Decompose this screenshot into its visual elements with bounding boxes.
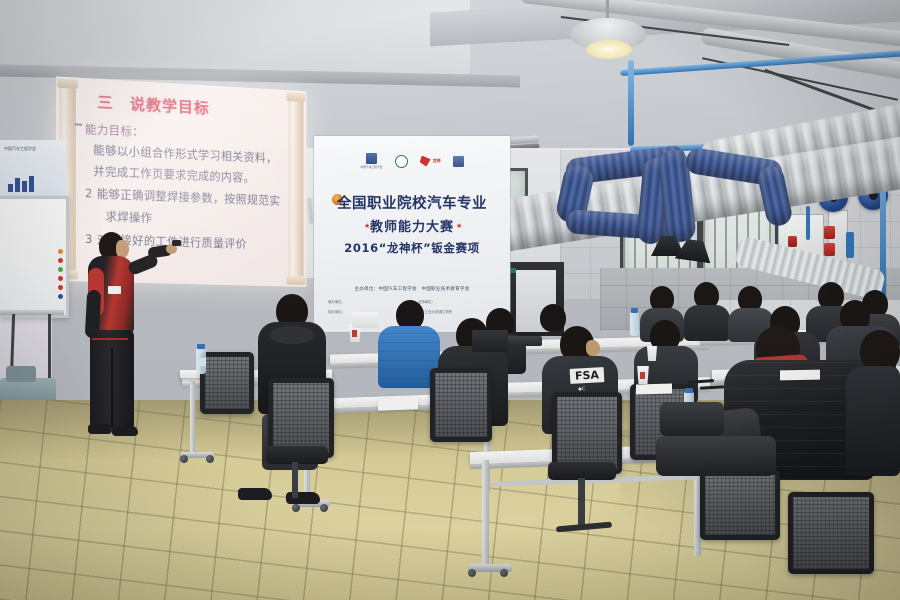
blue-valve <box>846 232 854 258</box>
whiteboard-tray <box>0 310 64 315</box>
caster-wheel <box>206 455 214 463</box>
power-socket[interactable] <box>788 236 797 247</box>
classroom-photo: 三 说教学目标 能力目标： 能够以小组合作形式学习相关资料， 并完成工作页要求完… <box>0 0 900 600</box>
notepad[interactable] <box>636 383 672 394</box>
laptop-screen[interactable] <box>472 330 508 352</box>
tissue-box <box>352 312 378 328</box>
jacket-badge: FSA <box>570 367 605 384</box>
shoe <box>88 424 112 434</box>
projected-slide: 三 说教学目标 能力目标： 能够以小组合作形式学习相关资料， 并完成工作页要求完… <box>56 76 306 287</box>
magnet-icon[interactable] <box>58 285 63 290</box>
poster-text: 中国汽车工程学会 <box>4 146 36 152</box>
blue-hose <box>806 206 810 240</box>
slide-line: 并完成工作页要求完成的内容。 <box>93 163 255 186</box>
whiteboard[interactable] <box>0 196 69 318</box>
laptop-bag[interactable] <box>656 436 776 476</box>
cup-logo <box>640 372 645 379</box>
banner-fine-print: 主办单位：中国汽车工程学会 中国职业技术教育学会 <box>314 286 510 292</box>
caster-wheel <box>320 504 328 512</box>
shoe <box>238 488 272 500</box>
slide-line: 2 能够正确调整焊接参数，按照规范实 <box>85 185 280 209</box>
cup-logo <box>352 330 357 337</box>
shoe <box>112 426 138 436</box>
university-logo-icon <box>453 156 464 167</box>
banner-title-line1: 全国职业院校汽车专业 <box>314 192 510 213</box>
chair[interactable] <box>700 470 780 540</box>
chair-post <box>292 462 298 498</box>
longshen-logo-icon: 龙神 <box>420 156 441 167</box>
presenter-badge <box>108 286 121 294</box>
blue-pipe <box>628 60 634 146</box>
china-sae-logo-icon: 中国汽车工程学会 <box>360 153 382 169</box>
slide-line: 能够以小组合作形式学习相关资料， <box>93 142 277 167</box>
magnet-icon[interactable] <box>58 258 63 263</box>
chair[interactable] <box>788 492 874 574</box>
chair[interactable] <box>430 368 492 442</box>
caster-wheel <box>180 455 188 463</box>
bottle-cap <box>685 388 693 393</box>
slide-bullet-dash <box>75 123 82 125</box>
water-bottle[interactable] <box>630 312 639 336</box>
slide-column-ornament <box>288 92 303 285</box>
power-socket[interactable] <box>824 243 835 256</box>
slide-line: 求焊操作 <box>106 208 153 226</box>
sponsor-logo-row: 中国汽车工程学会 龙神 <box>326 152 498 170</box>
wall-poster: 中国汽车工程学会 <box>0 140 66 200</box>
chair-post <box>578 478 585 526</box>
power-socket[interactable] <box>824 226 835 239</box>
magnet-icon[interactable] <box>58 276 63 281</box>
banner-title-line3: 2016“龙神杯”钣金赛项 <box>314 240 510 256</box>
magnet-icon[interactable] <box>58 249 63 254</box>
table-leg <box>190 381 195 455</box>
pen[interactable] <box>748 364 762 369</box>
whiteboard-magnets[interactable] <box>58 249 63 299</box>
caster-wheel <box>500 569 508 577</box>
workshop-machine-head <box>6 366 36 382</box>
attendee-body <box>846 366 900 476</box>
presenter-leg-split <box>111 348 113 428</box>
lamp-glow <box>586 40 632 59</box>
attendee-head <box>540 304 566 332</box>
notepad[interactable] <box>780 370 820 381</box>
presenter-trouser-stripe <box>92 338 128 340</box>
banner-title-line2: 教师能力大赛 <box>314 216 510 235</box>
laptop-bag[interactable] <box>660 402 724 436</box>
poster-bar-graphic <box>8 176 38 192</box>
star-icon: ★ <box>456 222 462 230</box>
hood <box>270 326 314 344</box>
circle-emblem-logo-icon <box>395 155 408 168</box>
caster-wheel <box>468 569 476 577</box>
banner-fine-print: 支持单位： <box>418 299 435 304</box>
logo-caption: 龙神 <box>433 158 441 164</box>
notepad[interactable] <box>378 397 418 410</box>
slide-title: 三 说教学目标 <box>97 91 285 122</box>
attendee-face <box>586 340 600 356</box>
bottle-label <box>196 358 206 366</box>
banner-fine-print: 协办单位： <box>328 309 345 314</box>
attendee-body <box>684 305 730 341</box>
magnet-icon[interactable] <box>58 294 63 299</box>
logo-caption: 中国汽车工程学会 <box>360 165 382 169</box>
slide-bullet-label: 能力目标： <box>85 121 144 140</box>
bottle-cap <box>631 308 638 313</box>
laser-pointer <box>172 240 181 246</box>
caster-wheel <box>292 504 300 512</box>
pen[interactable] <box>700 385 724 389</box>
banner-fine-print: 承办单位： <box>328 299 345 304</box>
chair[interactable] <box>200 352 254 414</box>
magnet-icon[interactable] <box>58 267 63 272</box>
bottle-cap <box>197 344 205 349</box>
table-leg <box>482 460 489 568</box>
